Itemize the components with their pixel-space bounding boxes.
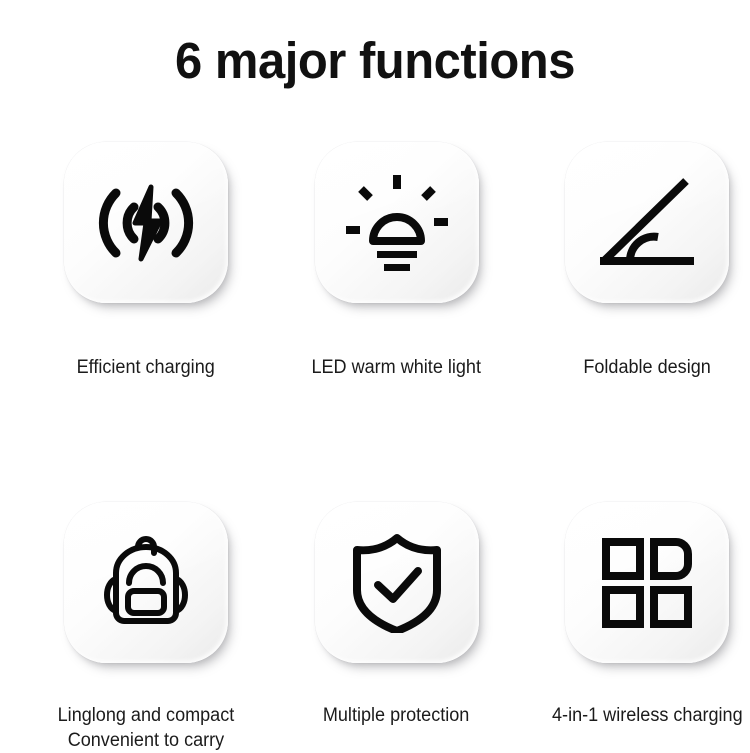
feature-label: 4-in-1 wireless charging bbox=[552, 663, 743, 728]
feature-tile[interactable] bbox=[64, 142, 228, 303]
feature-grid: Efficient charging bbox=[0, 142, 750, 753]
feature-item-multiple-protection[interactable]: Multiple protection bbox=[294, 502, 500, 728]
feature-row-1: Efficient charging bbox=[0, 142, 750, 380]
feature-label: Multiple protection bbox=[323, 663, 469, 728]
lightbulb-icon bbox=[344, 173, 450, 273]
feature-tile[interactable] bbox=[565, 142, 729, 303]
feature-tile[interactable] bbox=[315, 502, 479, 663]
feature-highlight-page: 6 major functions Effic bbox=[0, 0, 750, 750]
feature-item-linglong-compact[interactable]: Linglong and compact Convenient to carry bbox=[43, 502, 249, 753]
feature-tile[interactable] bbox=[315, 142, 479, 303]
feature-row-2: Linglong and compact Convenient to carry… bbox=[0, 502, 750, 753]
page-title: 6 major functions bbox=[15, 32, 735, 90]
feature-label: Linglong and compact Convenient to carry bbox=[58, 663, 235, 753]
feature-tile[interactable] bbox=[64, 502, 228, 663]
feature-label: LED warm white light bbox=[312, 303, 482, 380]
shield-check-icon bbox=[351, 533, 443, 633]
feature-label: Foldable design bbox=[583, 303, 710, 380]
feature-label: Efficient charging bbox=[77, 303, 215, 380]
feature-item-four-in-one-wireless-charging[interactable]: 4-in-1 wireless charging bbox=[544, 502, 750, 728]
feature-item-led-warm-white-light[interactable]: LED warm white light bbox=[294, 142, 500, 380]
feature-tile[interactable] bbox=[565, 502, 729, 663]
angle-icon bbox=[596, 175, 698, 271]
feature-item-foldable-design[interactable]: Foldable design bbox=[544, 142, 750, 380]
feature-item-efficient-charging[interactable]: Efficient charging bbox=[43, 142, 249, 380]
wireless-charging-bolt-icon bbox=[94, 183, 198, 263]
backpack-icon bbox=[96, 533, 196, 633]
four-squares-grid-icon bbox=[601, 537, 693, 629]
